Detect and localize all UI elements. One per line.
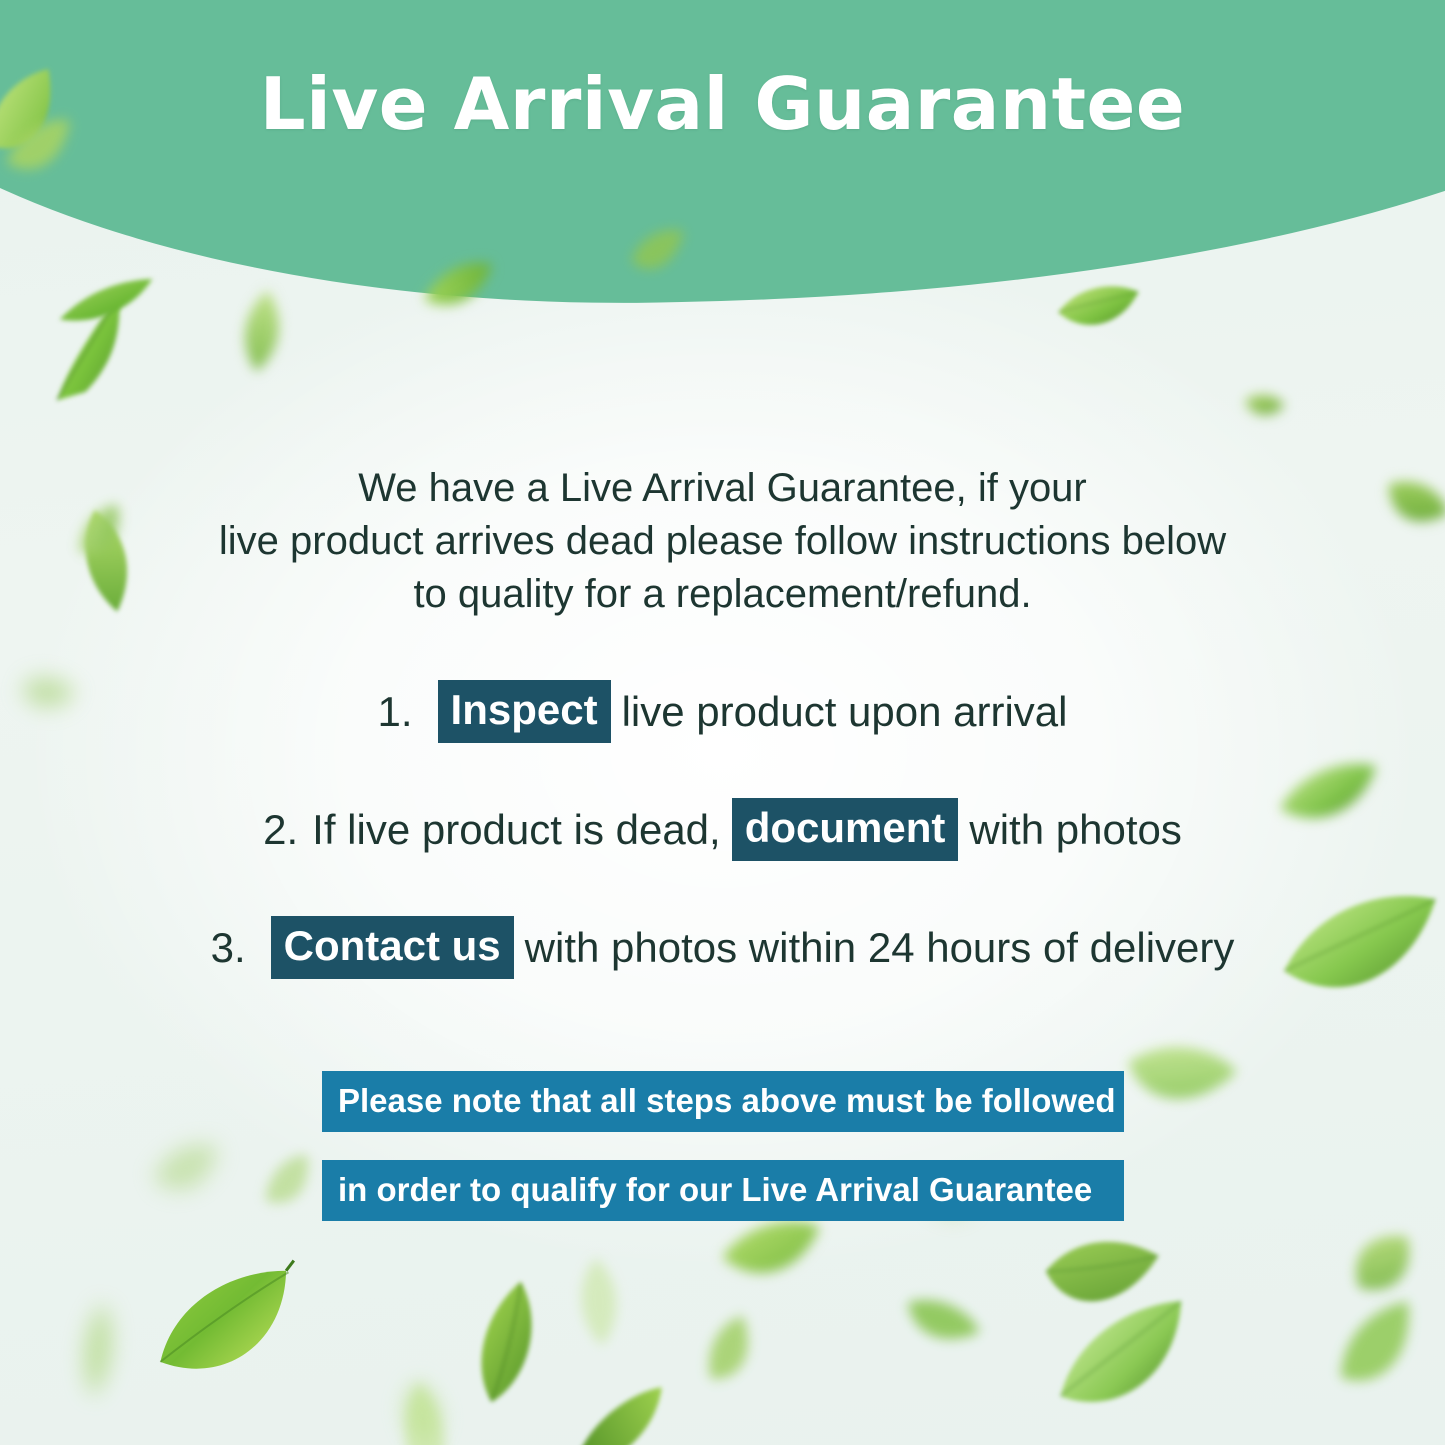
step-3: 3. Contact us with photos within 24 hour… xyxy=(0,916,1445,979)
live-arrival-guarantee-poster: Live Arrival Guarantee We have a Live Ar… xyxy=(0,0,1445,1445)
leaf-decoration xyxy=(13,269,165,416)
step-1: 1. Inspect live product upon arrival xyxy=(0,680,1445,743)
leaf-decoration xyxy=(1317,1290,1443,1408)
leaf-decoration xyxy=(388,1374,455,1445)
step-3-number: 3. xyxy=(211,927,246,969)
step-2-text-before: If live product is dead, xyxy=(312,809,721,851)
step-2-highlight: document xyxy=(732,798,959,861)
footer-note: Please note that all steps above must be… xyxy=(322,1071,1124,1221)
leaf-decoration xyxy=(1052,277,1149,338)
intro-line-3: to quality for a replacement/refund. xyxy=(0,568,1445,621)
leaf-decoration xyxy=(567,1254,631,1350)
leaf-decoration xyxy=(249,1144,330,1221)
leaf-decoration xyxy=(1029,1216,1167,1340)
leaf-decoration xyxy=(73,1298,123,1402)
header-banner xyxy=(0,0,1445,327)
step-1-text-after: live product upon arrival xyxy=(622,691,1068,733)
step-3-text-after: with photos within 24 hours of delivery xyxy=(525,927,1235,969)
step-3-highlight: Contact us xyxy=(271,916,514,979)
leaf-decoration xyxy=(43,247,162,369)
intro-line-1: We have a Live Arrival Guarantee, if you… xyxy=(0,462,1445,515)
step-2-number: 2. xyxy=(263,809,298,851)
note-line-1: Please note that all steps above must be… xyxy=(322,1071,1124,1132)
leaf-decoration xyxy=(1239,386,1288,427)
note-line-2: in order to qualify for our Live Arrival… xyxy=(322,1160,1124,1221)
leaf-decoration xyxy=(1112,1019,1244,1137)
step-2-text-after: with photos xyxy=(969,809,1181,851)
leaf-decoration xyxy=(230,285,293,377)
leaf-decoration xyxy=(139,1254,321,1399)
leaf-decoration xyxy=(717,1211,828,1291)
step-2: 2. If live product is dead, document wit… xyxy=(0,798,1445,861)
page-title: Live Arrival Guarantee xyxy=(0,62,1445,146)
intro-line-2: live product arrives dead please follow … xyxy=(0,515,1445,568)
step-1-number: 1. xyxy=(378,691,413,733)
instruction-steps: 1. Inspect live product upon arrival 2. … xyxy=(0,680,1445,1034)
leaf-decoration xyxy=(390,1377,460,1445)
leaf-decoration xyxy=(553,1377,687,1445)
intro-paragraph: We have a Live Arrival Guarantee, if you… xyxy=(0,462,1445,621)
leaf-decoration xyxy=(1037,1287,1212,1432)
leaf-decoration xyxy=(143,1130,234,1211)
leaf-decoration xyxy=(892,1278,989,1368)
leaf-decoration xyxy=(1331,1210,1437,1316)
leaf-decoration xyxy=(457,1272,556,1414)
leaf-decoration xyxy=(687,1307,777,1398)
step-1-highlight: Inspect xyxy=(438,680,611,743)
